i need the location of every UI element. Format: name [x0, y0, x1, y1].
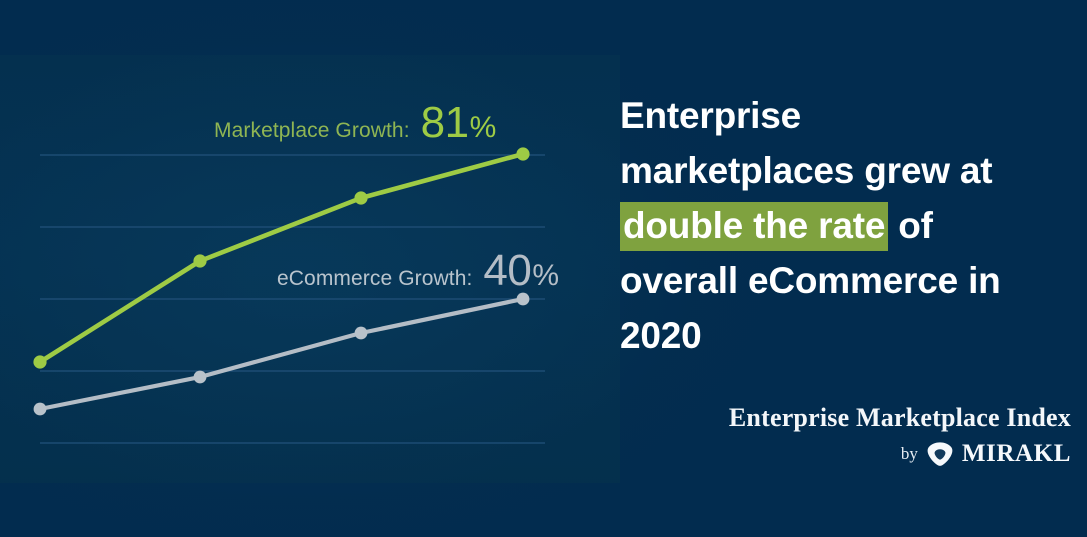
data-point	[516, 147, 529, 160]
headline-statement: Enterprise marketplaces grew at double t…	[620, 88, 1060, 363]
ecommerce-growth-callout: eCommerce Growth: 40 %	[277, 249, 559, 293]
brand-lockup: Enterprise Marketplace Index by MIRAKL	[729, 404, 1071, 468]
brand-wordmark: MIRAKL	[962, 440, 1071, 468]
headline-highlight: double the rate	[620, 202, 888, 251]
headline-line-3: double the rate of	[620, 198, 1060, 253]
headline-line-2: marketplaces grew at	[620, 143, 1060, 198]
data-point	[194, 371, 207, 384]
infographic-canvas: Marketplace Growth: 81 % eCommerce Growt…	[0, 0, 1087, 537]
chart-gridlines	[40, 155, 545, 443]
marketplace-growth-label: Marketplace Growth:	[214, 119, 410, 143]
headline-line-3-rest: of	[888, 205, 933, 246]
mirakl-shield-icon	[926, 441, 954, 467]
series-ecommerce-growth	[34, 293, 530, 416]
ecommerce-growth-label: eCommerce Growth:	[277, 267, 472, 291]
data-point	[354, 191, 367, 204]
data-point	[193, 254, 206, 267]
headline-line-5: 2020	[620, 308, 1060, 363]
marketplace-growth-unit: %	[470, 113, 497, 143]
brand-byline: by MIRAKL	[729, 440, 1071, 468]
data-point	[33, 355, 46, 368]
ecommerce-growth-unit: %	[532, 261, 559, 291]
marketplace-growth-value: 81	[421, 101, 469, 145]
headline-line-1: Enterprise	[620, 88, 1060, 143]
headline-line-4: overall eCommerce in	[620, 253, 1060, 308]
brand-title: Enterprise Marketplace Index	[729, 404, 1071, 433]
data-point	[34, 403, 47, 416]
brand-by-label: by	[901, 444, 918, 464]
data-point	[355, 327, 368, 340]
marketplace-growth-callout: Marketplace Growth: 81 %	[214, 101, 496, 145]
ecommerce-growth-value: 40	[483, 249, 531, 293]
